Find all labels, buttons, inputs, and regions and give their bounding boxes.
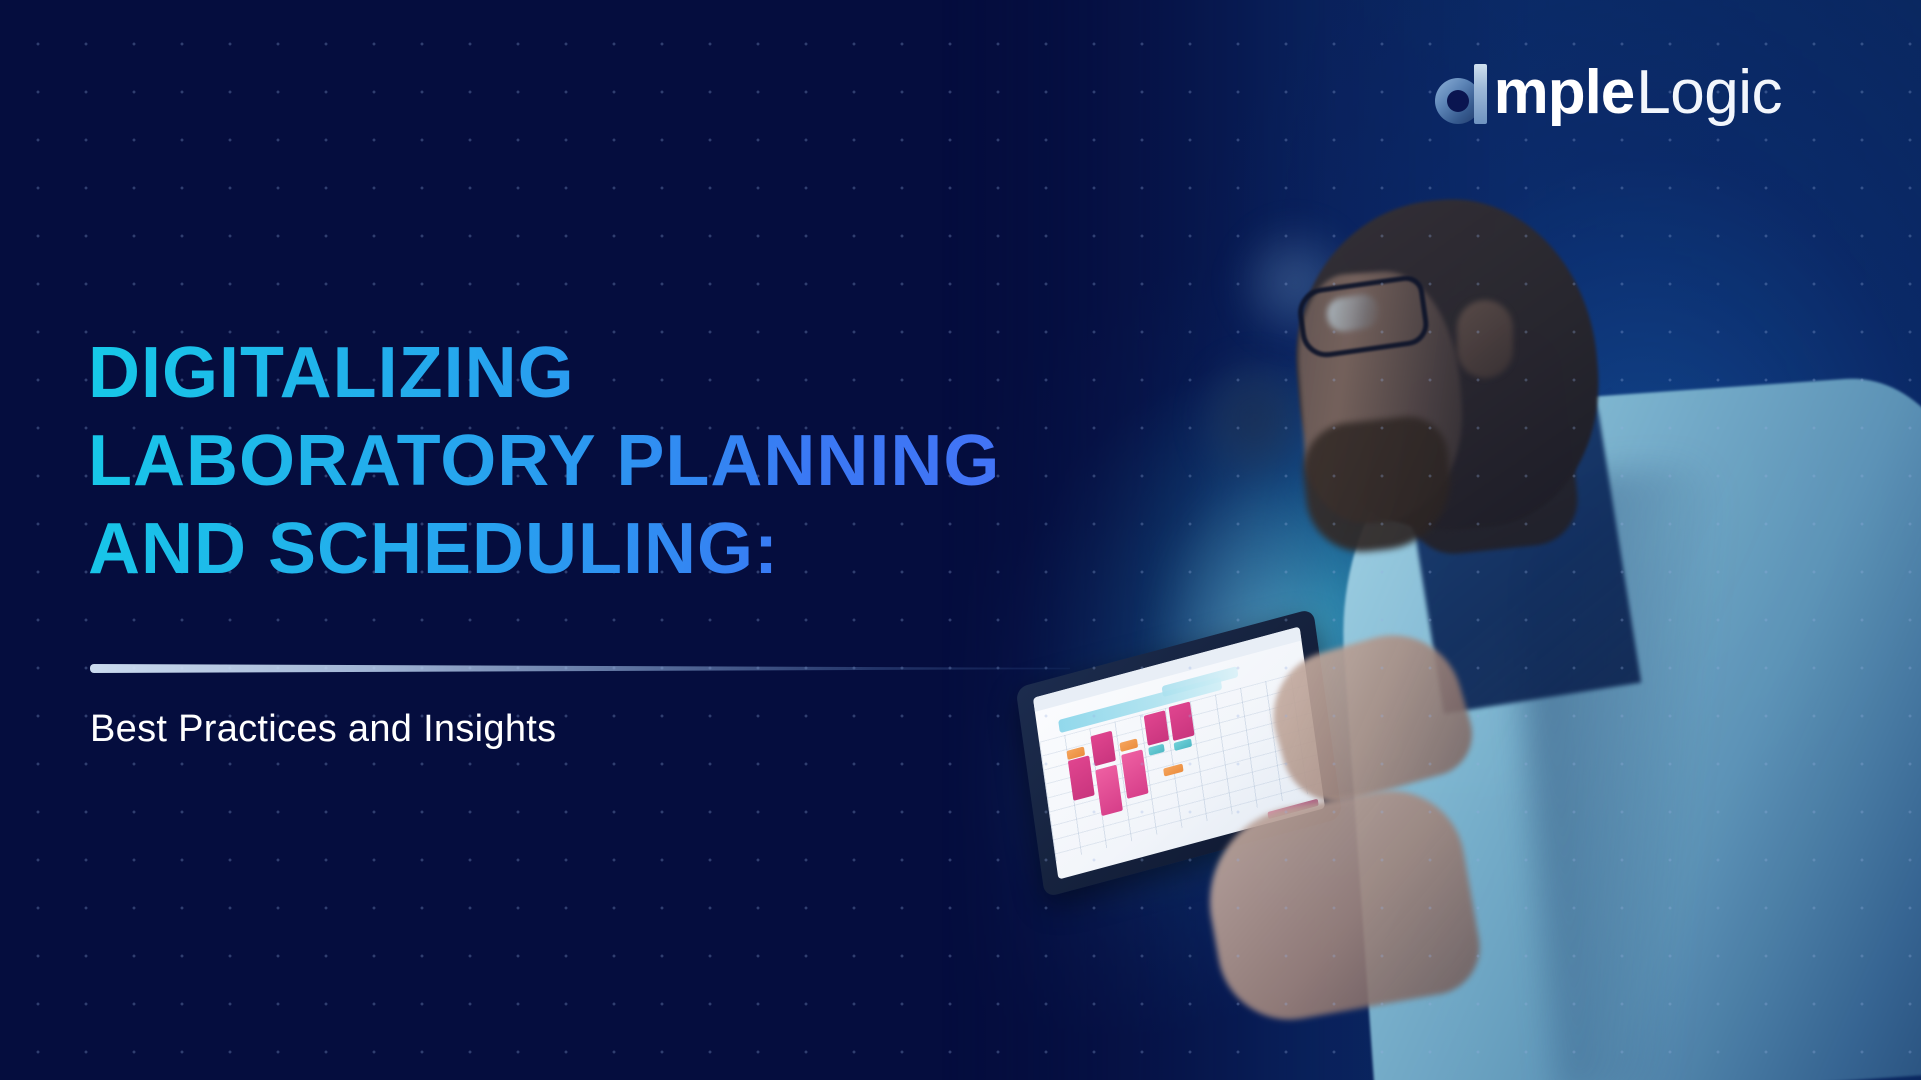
hand-upper [1258,619,1482,816]
logo-a-icon [1435,62,1493,124]
page-subtitle: Best Practices and Insights [90,708,556,751]
bokeh-light-lower [1356,718,1418,780]
calendar-event [1144,710,1169,746]
calendar-event [1169,701,1195,741]
tablet-app-header-band [1162,666,1239,697]
bokeh-light-mid [1210,690,1300,800]
hand-lower [1195,779,1488,1031]
slide-content: mple Logic DIGITALIZING LABORATORY PLANN… [0,0,1100,1080]
calendar-event [1121,749,1148,799]
calendar-event [1163,763,1183,776]
lab-coat [1327,371,1921,1080]
foreground-scientist [1201,0,1921,1080]
beard [1299,413,1458,558]
eyeglasses [1295,273,1431,360]
background-technician-right [1360,320,1590,790]
page-title: DIGITALIZING LABORATORY PLANNING AND SCH… [88,330,1000,593]
calendar-event [1148,744,1165,756]
head [1283,188,1611,543]
bokeh-light-upper [1235,218,1355,348]
amplelogic-logo[interactable]: mple Logic [1435,62,1782,124]
neck [1390,322,1582,559]
calendar-event [1174,738,1193,751]
eyeglass-reflection [1325,292,1382,334]
face-profile [1292,267,1469,528]
calendar-event [1119,738,1138,752]
logo-bold-text: mple [1494,62,1635,124]
logo-light-text: Logic [1636,62,1782,124]
background-technician-left [1150,360,1360,790]
lab-coat-shadow [1504,462,1767,1080]
tablet-app-footer-band [1267,799,1318,819]
ear [1457,300,1513,378]
title-divider [90,664,1070,673]
shirt-collar [1397,386,1641,714]
title-slide: mple Logic DIGITALIZING LABORATORY PLANN… [0,0,1921,1080]
